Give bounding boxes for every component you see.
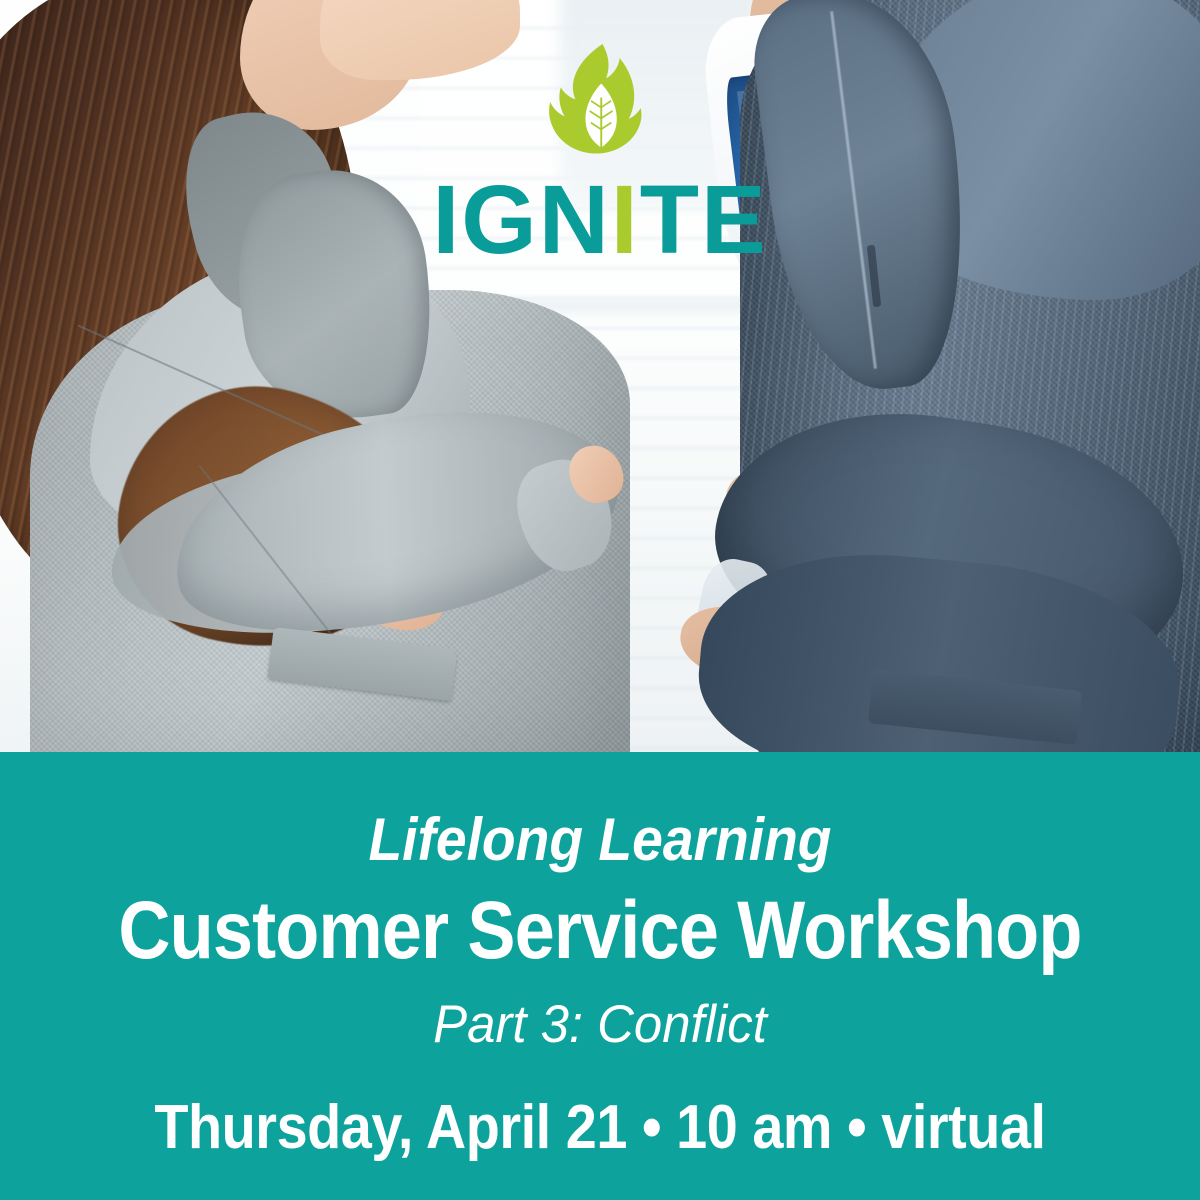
logo-wordmark: IGNITE — [0, 171, 1200, 268]
event-flyer: IGNITE Lifelong Learning Customer Servic… — [0, 0, 1200, 1200]
event-subtitle: Part 3: Conflict — [24, 998, 1176, 1051]
event-info-band: Lifelong Learning Customer Service Works… — [0, 752, 1200, 1200]
flame-leaf-icon — [541, 42, 659, 167]
hero-photo: IGNITE — [0, 0, 1200, 752]
ignite-logo: IGNITE — [0, 42, 1200, 268]
event-kicker: Lifelong Learning — [48, 810, 1152, 870]
logo-word-part-3: TE — [640, 165, 768, 274]
logo-word-part-1: IGN — [432, 165, 610, 274]
event-datetime: Thursday, April 21 • 10 am • virtual — [60, 1097, 1140, 1159]
logo-word-part-2: I — [611, 165, 640, 274]
event-title: Customer Service Workshop — [72, 890, 1128, 972]
